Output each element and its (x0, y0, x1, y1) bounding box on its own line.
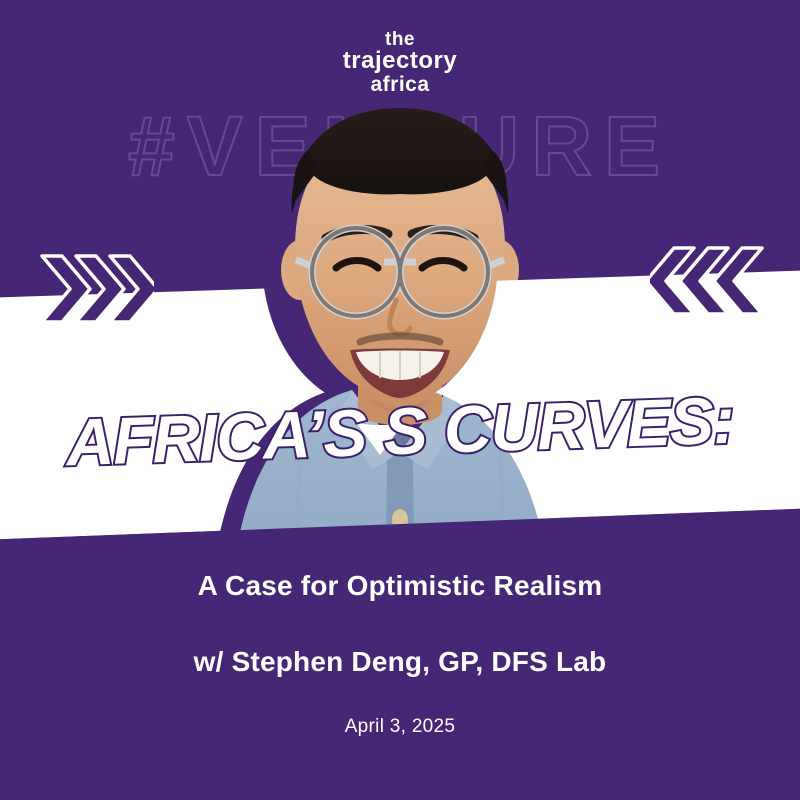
chevron-left-triple-icon (650, 242, 768, 320)
episode-title: AFRICA’S S CURVES: (0, 384, 800, 477)
episode-details: A Case for Optimistic Realism w/ Stephen… (0, 570, 800, 738)
venture-watermark-text: #VENTURE (0, 104, 800, 188)
brand-logo: the trajectory africa (0, 30, 800, 95)
logo-line-trajectory: trajectory (0, 49, 800, 73)
episode-speaker: w/ Stephen Deng, GP, DFS Lab (0, 646, 800, 678)
episode-subtitle: A Case for Optimistic Realism (0, 570, 800, 602)
chevron-right-triple-icon (36, 250, 154, 328)
episode-date: April 3, 2025 (0, 716, 800, 738)
logo-line-africa: africa (0, 74, 800, 95)
podcast-episode-poster: #VENTURE (0, 0, 800, 800)
